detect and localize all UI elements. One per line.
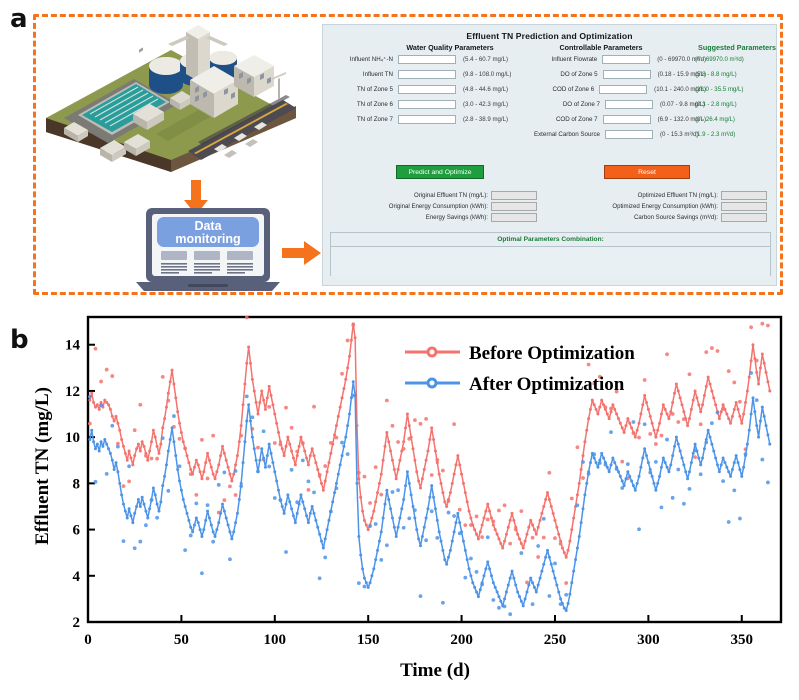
range-tn-zone6: (3.0 - 42.3 mg/L) (463, 101, 508, 108)
output-optimized-effluent-tn (721, 191, 767, 200)
input-cod-zone6[interactable] (599, 85, 647, 95)
input-tn-zone5[interactable] (398, 85, 456, 95)
wastewater-plant-illustration (38, 22, 303, 177)
input-influent-flowrate[interactable] (602, 55, 650, 65)
result-row-carbon-source-savings: Carbon Source Savings (m³/d): (537, 212, 767, 223)
y-tick-label: 2 (73, 615, 81, 631)
param-row-influent-flowrate: Influent Flowrate (0 - 69970.0 m³/d) (528, 52, 706, 67)
input-cod-zone7[interactable] (603, 115, 651, 125)
column-header-controllable: Controllable Parameters (521, 43, 681, 52)
suggested-row-external-carbon-source: (1.9 - 2.3 m³/d) (695, 127, 781, 142)
controllable-group: Influent Flowrate (0 - 69970.0 m³/d) DO … (528, 52, 706, 142)
suggested-external-carbon-source: (1.9 - 2.3 m³/d) (695, 131, 735, 138)
y-tick-label: 6 (73, 523, 81, 539)
result-row-original-energy-consumption: Original Energy Consumption (kWh): (345, 201, 537, 212)
range-tn-zone7: (2.8 - 38.9 mg/L) (463, 116, 508, 123)
param-row-cod-zone6: COD of Zone 6 (10.1 - 240.0 mg/L) (528, 82, 706, 97)
suggested-group: (0 - 69970.0 m³/d) (5.8 - 8.8 mg/L) (28.… (695, 52, 781, 142)
result-row-optimized-energy-consumption: Optimized Energy Consumption (kWh): (537, 201, 767, 212)
legend-swatch-marker (428, 379, 436, 387)
x-tick-label: 50 (174, 632, 189, 648)
param-row-influent-tn: Influent TN (9.8 - 108.0 mg/L) (331, 67, 536, 82)
label-optimized-energy-consumption: Optimized Energy Consumption (kWh): (612, 203, 718, 210)
series-layer (88, 316, 771, 616)
suggested-row-influent-flowrate: (0 - 69970.0 m³/d) (695, 52, 781, 67)
suggested-influent-flowrate: (0 - 69970.0 m³/d) (695, 56, 744, 63)
series-markers (88, 322, 771, 558)
label-carbon-source-savings: Carbon Source Savings (m³/d): (634, 214, 718, 221)
param-row-influent-nh4n: Influent NH₄⁺-N (5.4 - 60.7 mg/L) (331, 52, 536, 67)
column-header-suggested: Suggested Parameters (689, 43, 785, 52)
column-header-water-quality: Water Quality Parameters (375, 43, 525, 52)
input-tn-zone6[interactable] (398, 100, 456, 110)
legend-label: After Optimization (469, 374, 625, 395)
x-tick-label: 0 (84, 632, 92, 648)
suggested-do-zone7: (0.3 - 2.8 mg/L) (695, 101, 737, 108)
series-markers (88, 380, 771, 612)
effluent-tn-app-window: Effluent TN Prediction and Optimization … (322, 24, 777, 286)
range-tn-zone5: (4.8 - 44.6 mg/L) (463, 86, 508, 93)
reset-button[interactable]: Reset (604, 165, 690, 179)
label-energy-savings: Energy Savings (kWh): (426, 214, 488, 221)
output-optimized-energy-consumption (721, 202, 767, 211)
output-original-energy-consumption (491, 202, 537, 211)
series-after-optimization (88, 371, 771, 616)
range-external-carbon-source: (0 - 15.3 m³/d) (660, 131, 699, 138)
optimal-parameters-combination-header: Optimal Parameters Combination: (331, 233, 770, 247)
app-title: Effluent TN Prediction and Optimization (323, 25, 776, 41)
action-buttons-row: Predict and Optimize Reset (323, 165, 778, 185)
arrow-right-icon (282, 240, 322, 266)
input-tn-zone7[interactable] (398, 115, 456, 125)
y-tick-label: 10 (65, 430, 80, 446)
chart-legend: Before OptimizationAfter Optimization (405, 343, 635, 395)
label-optimized-effluent-tn: Optimized Effluent TN (mg/L): (638, 192, 718, 199)
label-influent-flowrate: Influent Flowrate (528, 56, 597, 63)
y-tick-label: 4 (73, 569, 81, 585)
output-energy-savings (491, 213, 537, 222)
result-row-original-effluent-tn: Original Effluent TN (mg/L): (345, 190, 537, 201)
output-original-effluent-tn (491, 191, 537, 200)
param-row-do-zone7: DO of Zone 7 (0.07 - 9.8 mg/L) (528, 97, 706, 112)
suggested-cod-zone6: (28.0 - 35.5 mg/L) (695, 86, 743, 93)
optimal-parameters-combination-box: Optimal Parameters Combination: (330, 232, 771, 276)
input-do-zone5[interactable] (603, 70, 651, 80)
y-tick-label: 12 (65, 384, 80, 400)
result-row-energy-savings: Energy Savings (kWh): (345, 212, 537, 223)
label-original-energy-consumption: Original Energy Consumption (kWh): (389, 203, 488, 210)
label-do-zone7: DO of Zone 7 (528, 101, 600, 108)
panel-b: b Effluent TN (mg/L) Time (d) 0501001502… (0, 305, 799, 700)
label-tn-zone6: TN of Zone 6 (331, 101, 393, 108)
suggested-row-do-zone7: (0.3 - 2.8 mg/L) (695, 97, 781, 112)
label-do-zone5: DO of Zone 5 (528, 71, 598, 78)
param-row-cod-zone7: COD of Zone 7 (6.9 - 132.0 mg/L) (528, 112, 706, 127)
predict-and-optimize-button[interactable]: Predict and Optimize (396, 165, 484, 179)
x-tick-label: 150 (357, 632, 380, 648)
param-row-tn-zone5: TN of Zone 5 (4.8 - 44.6 mg/L) (331, 82, 536, 97)
optimal-parameters-combination-value (331, 247, 770, 277)
y-tick-label: 14 (65, 338, 81, 354)
label-tn-zone7: TN of Zone 7 (331, 116, 393, 123)
panel-a: a (0, 0, 799, 310)
label-external-carbon-source: External Carbon Source (528, 131, 600, 138)
scatter-points (88, 371, 770, 616)
label-influent-tn: Influent TN (331, 71, 393, 78)
x-tick-label: 350 (731, 632, 754, 648)
input-external-carbon-source[interactable] (605, 130, 653, 140)
suggested-cod-zone7: (0 - 26.4 mg/L) (695, 116, 735, 123)
results-right-column: Optimized Effluent TN (mg/L): Optimized … (537, 190, 767, 223)
legend-label: Before Optimization (469, 343, 635, 364)
param-row-external-carbon-source: External Carbon Source (0 - 15.3 m³/d) (528, 127, 706, 142)
x-tick-label: 250 (544, 632, 567, 648)
suggested-do-zone5: (5.8 - 8.8 mg/L) (695, 71, 737, 78)
suggested-row-do-zone5: (5.8 - 8.8 mg/L) (695, 67, 781, 82)
label-cod-zone7: COD of Zone 7 (528, 116, 598, 123)
input-influent-nh4n[interactable] (398, 55, 456, 65)
suggested-row-cod-zone7: (0 - 26.4 mg/L) (695, 112, 781, 127)
range-influent-tn: (9.8 - 108.0 mg/L) (463, 71, 511, 78)
effluent-tn-timeseries-chart: 0501001502002503003502468101214 Before O… (0, 305, 799, 665)
range-influent-nh4n: (5.4 - 60.7 mg/L) (463, 56, 508, 63)
output-carbon-source-savings (721, 213, 767, 222)
param-row-tn-zone7: TN of Zone 7 (2.8 - 38.9 mg/L) (331, 112, 536, 127)
x-tick-label: 100 (264, 632, 287, 648)
input-influent-tn[interactable] (398, 70, 456, 80)
suggested-row-cod-zone6: (28.0 - 35.5 mg/L) (695, 82, 781, 97)
x-tick-label: 200 (450, 632, 473, 648)
label-influent-nh4n: Influent NH₄⁺-N (331, 56, 393, 63)
y-tick-label: 8 (73, 476, 81, 492)
laptop-caption-line2: monitoring (175, 232, 240, 246)
x-tick-label: 300 (637, 632, 660, 648)
param-row-tn-zone6: TN of Zone 6 (3.0 - 42.3 mg/L) (331, 97, 536, 112)
param-row-do-zone5: DO of Zone 5 (0.18 - 15.9 mg/L) (528, 67, 706, 82)
panel-a-label: a (10, 6, 28, 32)
results-left-column: Original Effluent TN (mg/L): Original En… (345, 190, 537, 223)
laptop-caption-line1: Data (194, 219, 222, 233)
input-do-zone7[interactable] (605, 100, 653, 110)
label-original-effluent-tn: Original Effluent TN (mg/L): (414, 192, 488, 199)
result-row-optimized-effluent-tn: Optimized Effluent TN (mg/L): (537, 190, 767, 201)
label-tn-zone5: TN of Zone 5 (331, 86, 393, 93)
laptop-data-monitoring-graphic: Data monitoring (130, 208, 290, 294)
label-cod-zone6: COD of Zone 6 (528, 86, 594, 93)
water-quality-group: Influent NH₄⁺-N (5.4 - 60.7 mg/L) Influe… (331, 52, 536, 127)
legend-swatch-marker (428, 348, 436, 356)
